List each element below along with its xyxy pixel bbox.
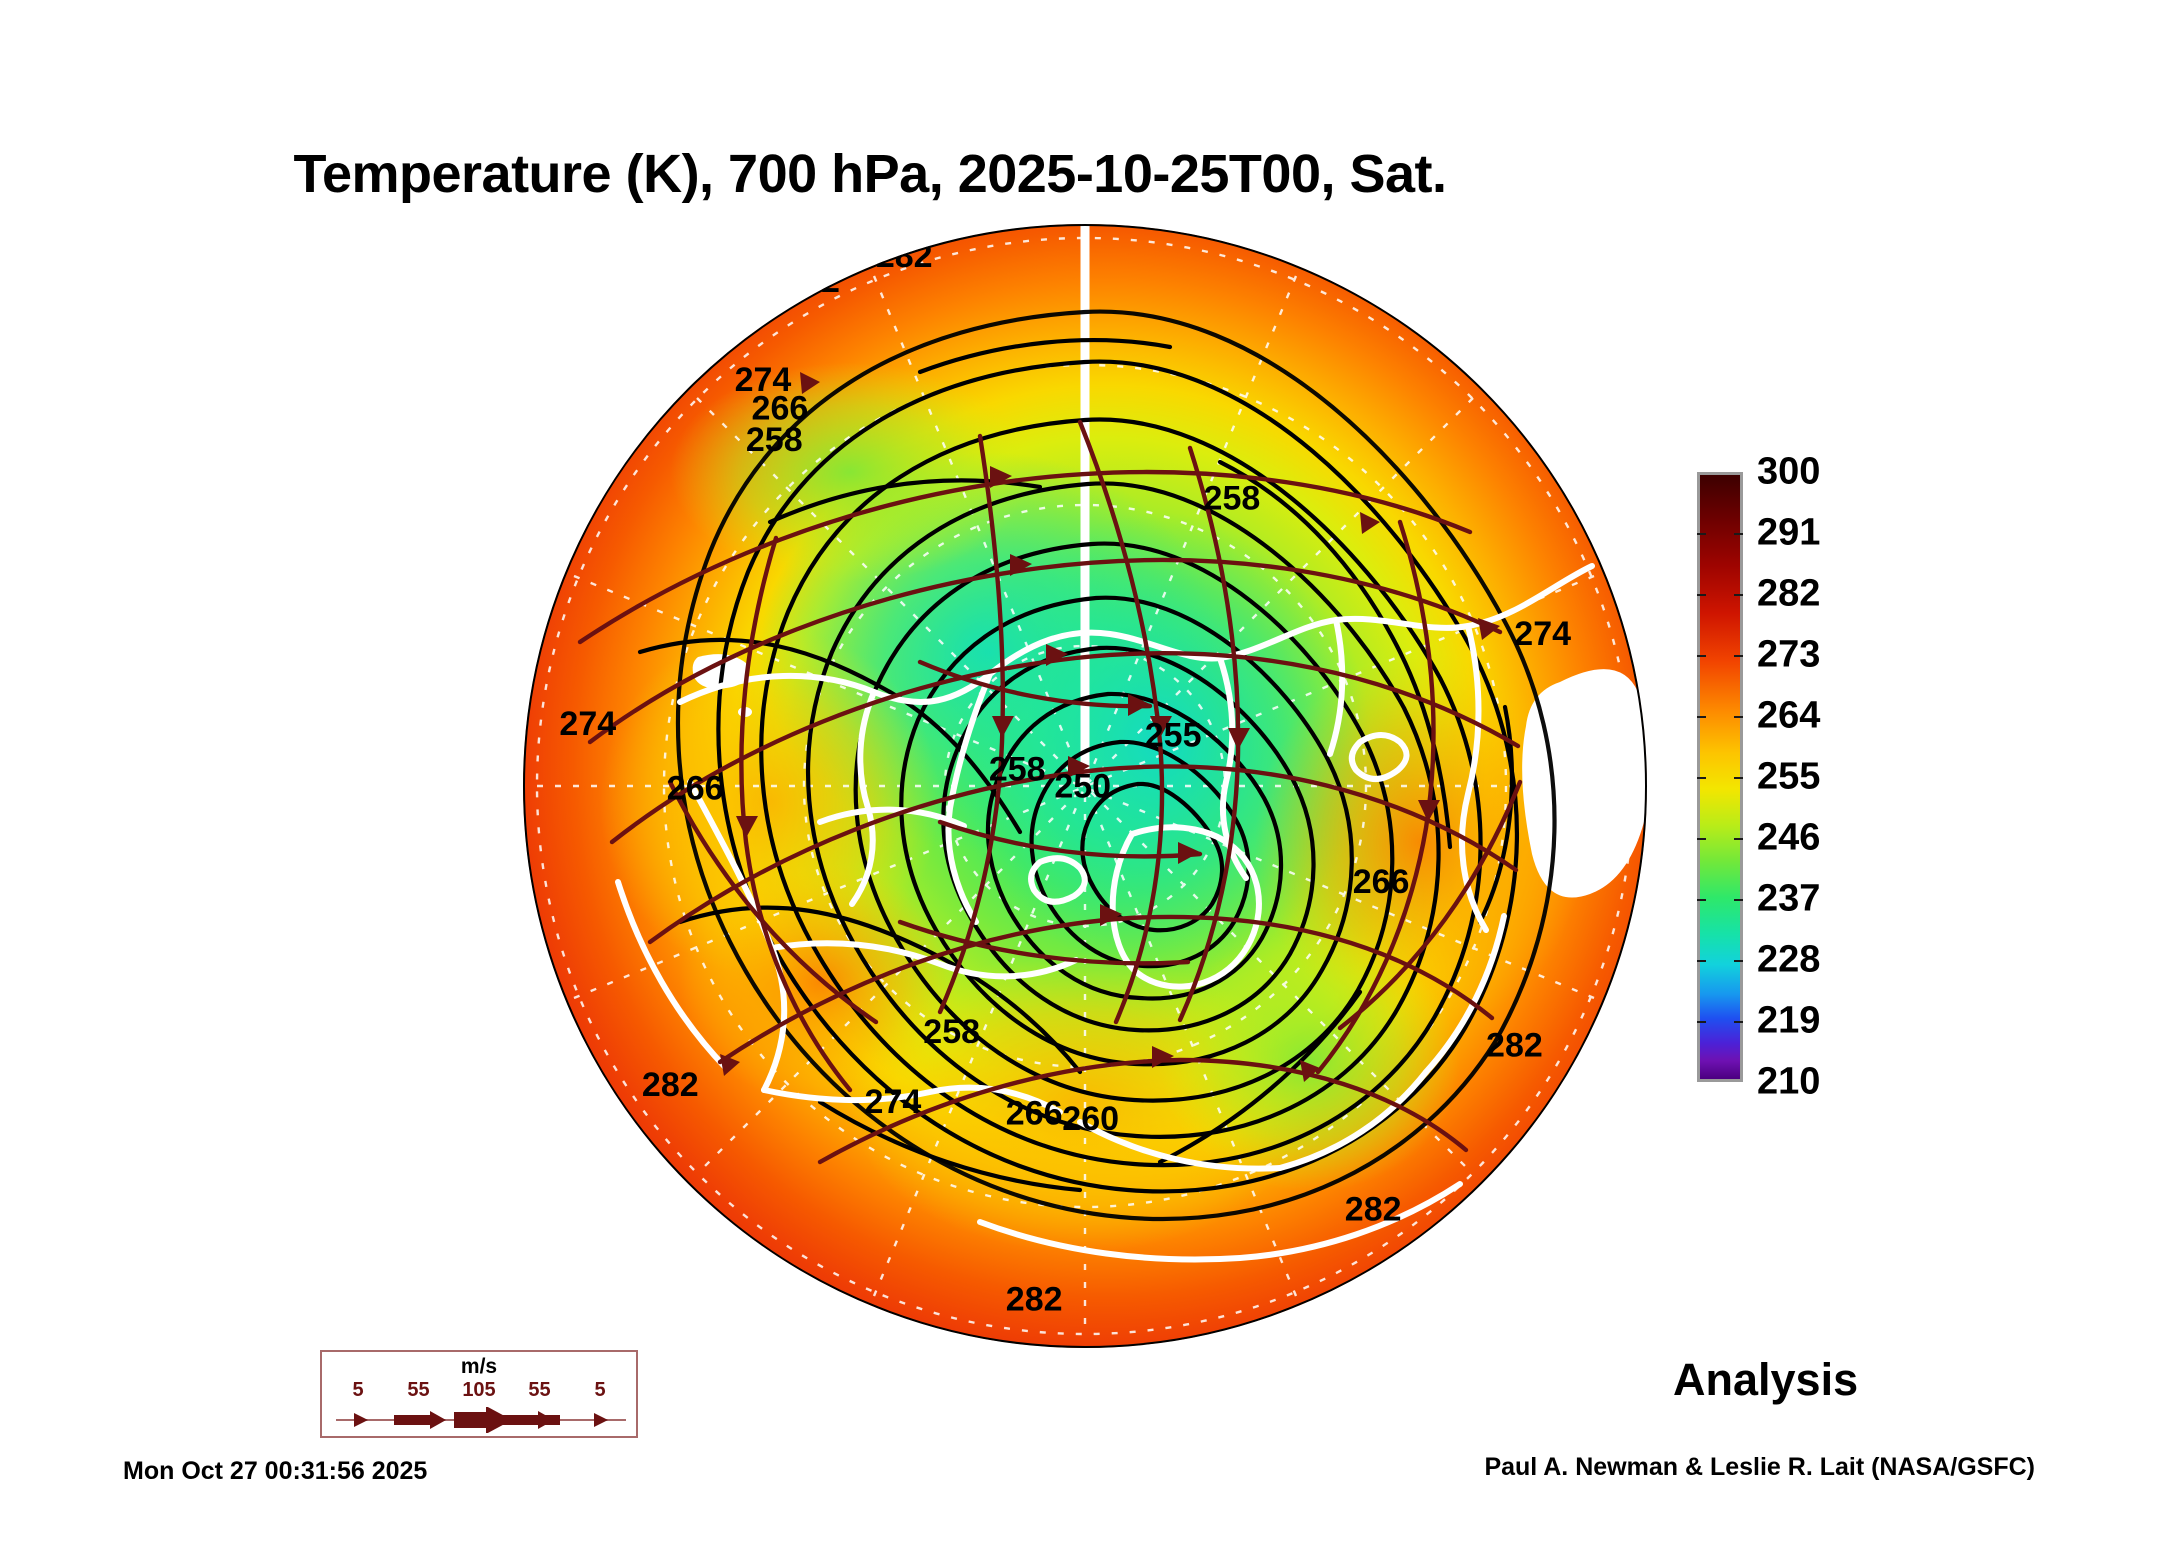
colorbar-tick-mark [1697, 594, 1706, 596]
contour-label: 282 [1006, 1281, 1063, 1319]
contour-label: 274 [865, 1083, 922, 1121]
contour-label: 274 [1514, 615, 1571, 653]
colorbar-tick-mark [1734, 533, 1743, 535]
colorbar-tick-mark [1697, 655, 1706, 657]
colorbar-tick-mark [1734, 899, 1743, 901]
globe-contents: 2822822822822742662582582552582502662742… [523, 222, 1650, 1348]
wind-tick-1: 55 [391, 1379, 447, 1402]
wind-tick-3: 55 [512, 1379, 568, 1402]
colorbar-tick-mark [1734, 838, 1743, 840]
colorbar-tick-mark [1734, 655, 1743, 657]
colorbar[interactable]: 300291282273264255246237228219210 [1697, 472, 1887, 1086]
contour-label: 266 [1006, 1094, 1063, 1132]
contour-label: 274 [559, 705, 616, 743]
contour-label: 282 [542, 269, 599, 307]
colorbar-tick-label: 237 [1757, 878, 1820, 921]
contour-label: 282 [876, 237, 933, 275]
wind-units-label: m/s [322, 1355, 636, 1379]
contour-label: 258 [923, 1013, 980, 1051]
colorbar-tick-mark [1697, 899, 1706, 901]
polar-stereographic-globe: 2822822822822742662582582552582502662742… [520, 222, 1650, 1350]
colorbar-tick-mark [1734, 716, 1743, 718]
colorbar-tick-label: 291 [1757, 512, 1820, 555]
wind-tick-0: 5 [330, 1379, 386, 1402]
colorbar-tick-mark [1697, 960, 1706, 962]
colorbar-tick-label: 273 [1757, 634, 1820, 677]
colorbar-tick-mark [1734, 960, 1743, 962]
colorbar-tick-mark [1697, 1021, 1706, 1023]
colorbar-tick-mark [1697, 716, 1706, 718]
colorbar-tick-label: 246 [1757, 817, 1820, 860]
colorbar-tick-mark [1697, 777, 1706, 779]
contour-label: 282 [652, 282, 709, 320]
colorbar-tick-mark [1734, 777, 1743, 779]
contour-label: 282 [1345, 1190, 1402, 1228]
wind-arrow-scale [332, 1407, 626, 1433]
contour-label: 282 [783, 262, 840, 300]
author-credit: Paul A. Newman & Leslie R. Lait (NASA/GS… [1484, 1453, 2035, 1482]
green-lobe-nw [670, 362, 1030, 582]
colorbar-tick-label: 228 [1757, 939, 1820, 982]
colorbar-tick-label: 300 [1757, 451, 1820, 494]
map-area: 2822822822822742662582582552582502662742… [520, 222, 1650, 1350]
colorbar-tick-label: 282 [1757, 573, 1820, 616]
wind-speed-legend: m/s 5 55 105 55 5 [320, 1350, 638, 1438]
colorbar-tick-mark [1697, 838, 1706, 840]
contour-label: 260 [1062, 1100, 1119, 1138]
colorbar-tick-label: 210 [1757, 1061, 1820, 1104]
contour-label: 258 [1204, 480, 1261, 518]
render-timestamp: Mon Oct 27 00:31:56 2025 [123, 1457, 427, 1486]
contour-label: 255 [1145, 717, 1202, 755]
contour-label: 266 [1353, 863, 1410, 901]
contour-label: 258 [989, 750, 1046, 788]
contour-label: 282 [1486, 1027, 1543, 1065]
plot-page: Temperature (K), 700 hPa, 2025-10-25T00,… [0, 0, 2165, 1561]
wind-tick-labels: 5 55 105 55 5 [330, 1379, 628, 1402]
contour-label: 258 [746, 421, 803, 459]
contour-label: 250 [1054, 767, 1111, 805]
colorbar-tick-label: 264 [1757, 695, 1820, 738]
wind-tick-2: 105 [451, 1379, 507, 1402]
colorbar-tick-mark [1734, 594, 1743, 596]
colorbar-tick-mark [1697, 533, 1706, 535]
contour-label: 266 [667, 770, 724, 808]
contour-label: 282 [642, 1066, 699, 1104]
colorbar-tick-label: 255 [1757, 756, 1820, 799]
page-title: Temperature (K), 700 hPa, 2025-10-25T00,… [0, 143, 1740, 205]
colorbar-tick-mark [1734, 1021, 1743, 1023]
wind-tick-4: 5 [572, 1379, 628, 1402]
colorbar-tick-label: 219 [1757, 1000, 1820, 1043]
analysis-label: Analysis [1673, 1354, 1858, 1406]
